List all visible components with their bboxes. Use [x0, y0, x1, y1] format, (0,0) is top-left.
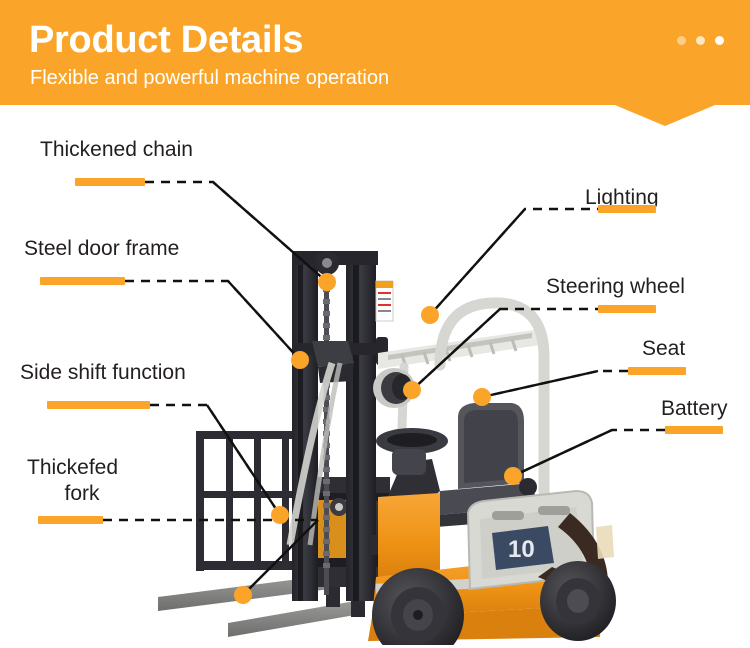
forklift-illustration: 10 — [140, 245, 620, 645]
callout-thickefed-fork-line1: Thickefed — [27, 456, 118, 479]
dot-3-icon — [715, 36, 724, 45]
callout-steering-wheel-label: Steering wheel — [546, 274, 685, 300]
callout-thickefed-fork-line2: fork — [27, 481, 137, 507]
callout-seat-bar — [628, 367, 686, 375]
dot-1-icon — [677, 36, 686, 45]
capacity-badge-text: 10 — [508, 536, 535, 563]
callout-seat-label: Seat — [642, 336, 685, 362]
callout-battery-label: Battery — [661, 396, 728, 422]
callout-thickened-chain-label: Thickened chain — [40, 137, 193, 163]
product-details-infographic: Product Details Flexible and powerful ma… — [0, 0, 750, 648]
dot-2-icon — [696, 36, 705, 45]
callout-steering-wheel-bar — [598, 305, 656, 313]
header-arrow-tab-icon — [615, 105, 715, 126]
callout-thickefed-fork-label: Thickefed fork — [27, 455, 137, 507]
callout-thickened-chain-bar — [75, 178, 145, 186]
page-subtitle: Flexible and powerful machine operation — [30, 66, 389, 90]
callout-side-shift-bar — [47, 401, 150, 409]
callout-battery-bar — [665, 426, 723, 434]
page-title: Product Details — [29, 18, 303, 62]
callout-lighting-bar — [598, 205, 656, 213]
callout-thickefed-fork-bar — [38, 516, 103, 524]
callout-steel-door-frame-label: Steel door frame — [24, 236, 179, 262]
load-backrest — [196, 431, 308, 571]
callout-steel-door-frame-bar — [40, 277, 125, 285]
callout-side-shift-label: Side shift function — [20, 360, 186, 386]
header-banner: Product Details Flexible and powerful ma… — [0, 0, 750, 105]
header-dots — [677, 36, 724, 45]
